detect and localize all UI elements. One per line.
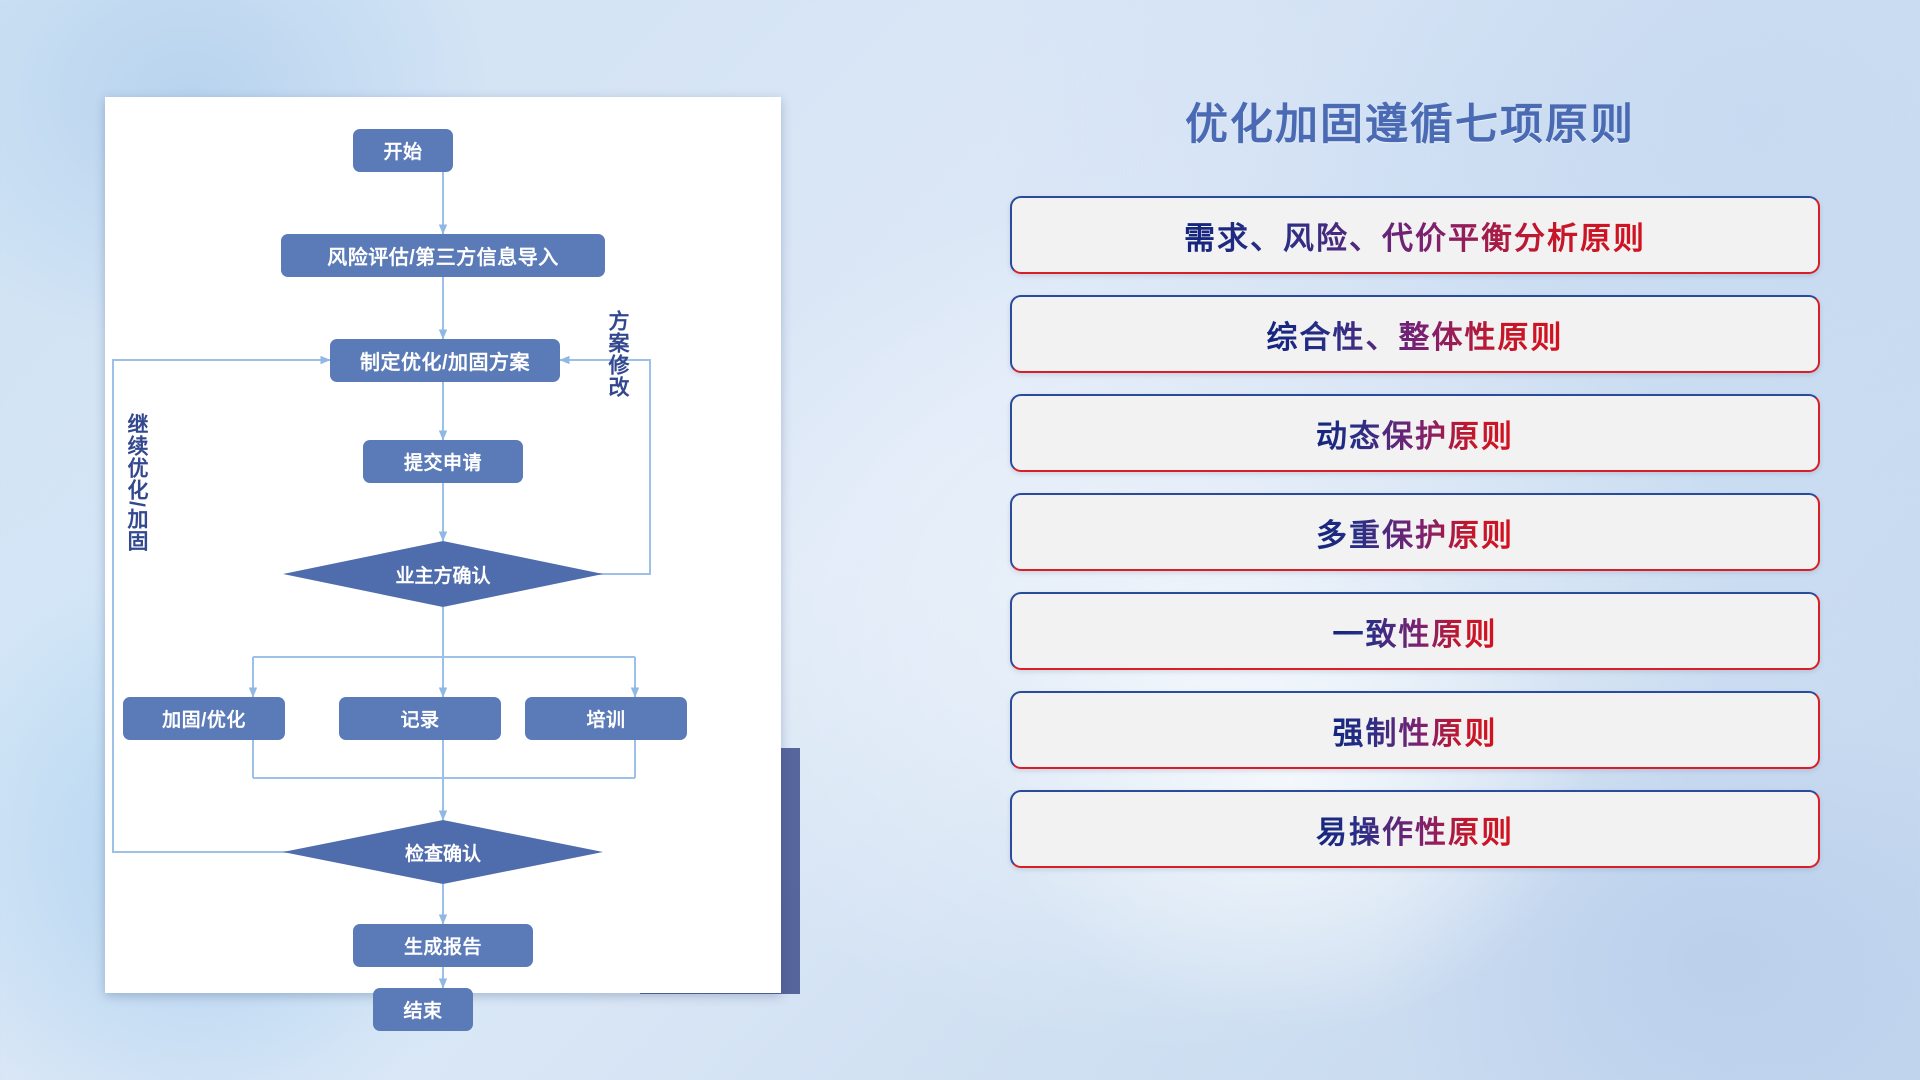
flow-node-label: 记录 <box>400 705 439 732</box>
flow-node-risk-assessment: 风险评估/第三方信息导入 <box>281 234 605 277</box>
principle-label: 需求、风险、代价平衡分析原则 <box>1184 213 1646 258</box>
flow-node-label: 加固/优化 <box>162 705 246 732</box>
flow-node-label: 培训 <box>586 705 625 732</box>
flow-node-label: 检查确认 <box>283 820 603 884</box>
principles-panel: 优化加固遵循七项原则 需求、风险、代价平衡分析原则 综合性、整体性原则 动态保护… <box>1010 90 1820 1010</box>
principle-label: 多重保护原则 <box>1316 510 1514 555</box>
page-title: 优化加固遵循七项原则 <box>1000 90 1820 152</box>
flow-node-label: 提交申请 <box>404 448 482 475</box>
principle-card-5[interactable]: 一致性原则 <box>1010 592 1820 670</box>
flow-node-training: 培训 <box>525 697 687 740</box>
principle-card-7[interactable]: 易操作性原则 <box>1010 790 1820 868</box>
principle-label: 综合性、整体性原则 <box>1267 312 1564 357</box>
principle-label: 动态保护原则 <box>1316 411 1514 456</box>
flow-node-record: 记录 <box>339 697 501 740</box>
flow-node-end: 结束 <box>373 988 473 1031</box>
principle-label: 一致性原则 <box>1333 609 1498 654</box>
principle-card-4[interactable]: 多重保护原则 <box>1010 493 1820 571</box>
principles-list: 需求、风险、代价平衡分析原则 综合性、整体性原则 动态保护原则 多重保护原则 一… <box>1010 196 1820 868</box>
flow-node-label: 风险评估/第三方信息导入 <box>327 241 559 270</box>
flow-node-reinforce-optimize: 加固/优化 <box>123 697 285 740</box>
flow-node-label: 开始 <box>383 137 422 164</box>
flow-edge-label-plan-revision: 方案修改 <box>606 310 628 398</box>
flow-node-start: 开始 <box>353 129 453 172</box>
flowchart-card: 开始 风险评估/第三方信息导入 制定优化/加固方案 提交申请 业主方确认 加固/… <box>105 97 781 993</box>
principle-card-3[interactable]: 动态保护原则 <box>1010 394 1820 472</box>
flow-node-generate-report: 生成报告 <box>353 924 533 967</box>
principle-label: 易操作性原则 <box>1316 807 1514 852</box>
flow-node-inspection-confirm: 检查确认 <box>283 820 603 884</box>
principle-label: 强制性原则 <box>1333 708 1498 753</box>
flowchart-canvas: 开始 风险评估/第三方信息导入 制定优化/加固方案 提交申请 业主方确认 加固/… <box>105 97 781 993</box>
flow-node-make-plan: 制定优化/加固方案 <box>330 339 560 382</box>
principle-card-1[interactable]: 需求、风险、代价平衡分析原则 <box>1010 196 1820 274</box>
flow-edge-label-continue-optimize: 继续优化/加固 <box>125 413 147 552</box>
principle-card-6[interactable]: 强制性原则 <box>1010 691 1820 769</box>
flow-node-submit-application: 提交申请 <box>363 440 523 483</box>
flow-node-label: 制定优化/加固方案 <box>360 346 530 375</box>
flow-node-label: 结束 <box>403 996 442 1023</box>
flow-node-owner-confirm: 业主方确认 <box>283 541 603 607</box>
flow-node-label: 业主方确认 <box>283 541 603 607</box>
flow-node-label: 生成报告 <box>404 932 482 959</box>
principle-card-2[interactable]: 综合性、整体性原则 <box>1010 295 1820 373</box>
